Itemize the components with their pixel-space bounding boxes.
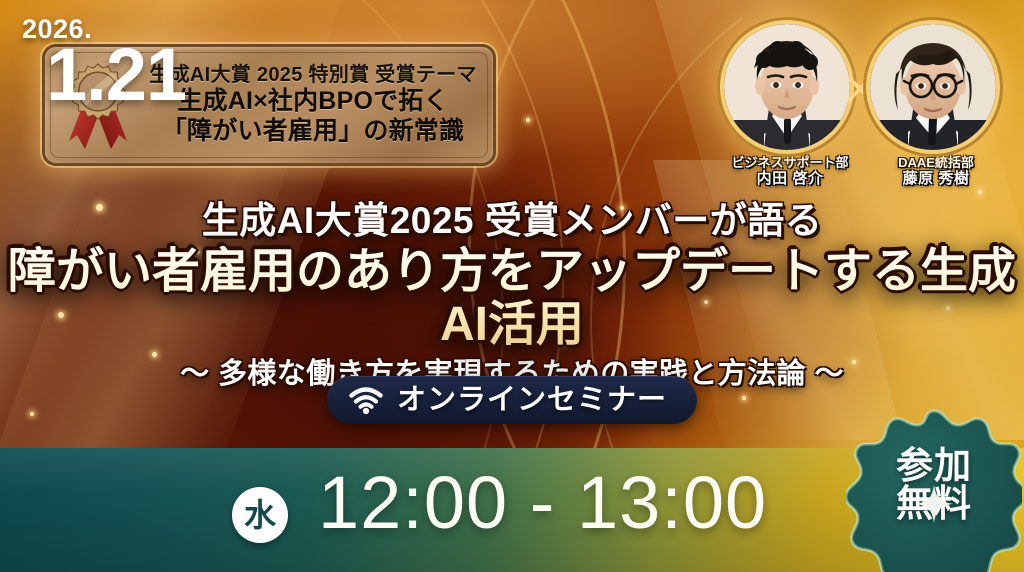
online-seminar-label: オンラインセミナー [397, 386, 667, 415]
free-participation-badge: 参加 無料 [846, 408, 1022, 572]
award-line-3: 「障がい者雇用」の新常識 [162, 117, 464, 147]
sparkle-icon [896, 485, 972, 523]
speakers-group: ビジネスサポート部 内田 啓介 [710, 24, 1010, 204]
wifi-icon [349, 386, 383, 414]
award-line-1: 生成AI大賞 2025 特別賞 受賞テーマ [149, 64, 476, 86]
speaker-portrait-icon [870, 24, 996, 150]
speaker-card-2: DAAE統括部 藤原 秀樹 [870, 24, 1002, 187]
speaker-caption-1: ビジネスサポート部 内田 啓介 [724, 156, 856, 187]
award-line-2: 生成AI×社内BPOで拓く [177, 87, 448, 117]
free-badge-line-2: 無料 [896, 485, 972, 523]
speaker-caption-2: DAAE統括部 藤原 秀樹 [870, 156, 1002, 187]
seminar-banner: 生成AI大賞 2025 特別賞 受賞テーマ 生成AI×社内BPOで拓く 「障がい… [0, 0, 1024, 572]
schedule-day: 1.21 [46, 38, 186, 112]
speaker-card-1: ビジネスサポート部 内田 啓介 [724, 24, 856, 187]
title-line-1: 生成AI大賞2025 受賞メンバーが語る [0, 200, 1024, 241]
speaker-dept: DAAE統括部 [870, 156, 1002, 171]
title-line-2: 障がい者雇用のあり方をアップデートする生成AI活用 [0, 246, 1024, 352]
speaker-name: 内田 啓介 [724, 171, 856, 188]
free-badge-line-1: 参加 [896, 447, 972, 485]
speaker-name: 藤原 秀樹 [870, 171, 1002, 188]
title-block: 生成AI大賞2025 受賞メンバーが語る 障がい者雇用のあり方をアップデートする… [0, 200, 1024, 391]
schedule-time: 12:00 - 13:00 [318, 466, 767, 540]
speaker-dept: ビジネスサポート部 [724, 156, 856, 171]
day-of-week-badge: 水 [232, 487, 288, 543]
speaker-portrait-icon [724, 24, 850, 150]
online-seminar-pill: オンラインセミナー [327, 376, 697, 424]
